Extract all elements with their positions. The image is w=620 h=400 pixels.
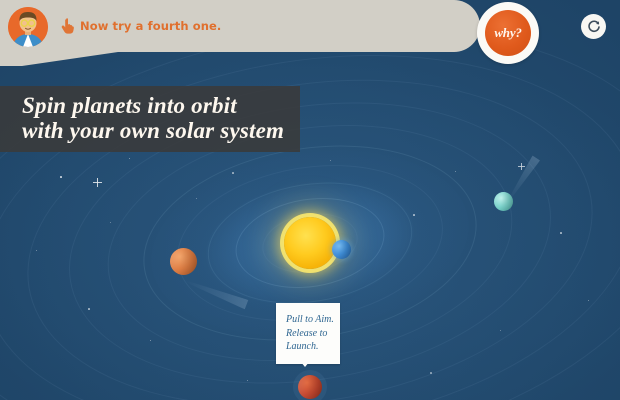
- planet-orange[interactable]: [170, 248, 197, 275]
- star: [588, 300, 589, 301]
- star: [88, 308, 90, 310]
- solar-system-canvas[interactable]: Pull to Aim. Release to Launch. Spin pla…: [0, 0, 620, 400]
- planet-red[interactable]: [298, 375, 322, 399]
- tooltip-line-1: Pull to Aim.: [286, 313, 331, 327]
- star: [455, 171, 456, 172]
- planet-shading: [170, 248, 197, 275]
- star: [129, 158, 130, 159]
- hint-message: Now try a fourth one.: [60, 18, 221, 34]
- planet-teal[interactable]: [494, 192, 513, 211]
- tooltip-tail: [296, 356, 314, 367]
- why-button-circle: why?: [485, 10, 531, 56]
- page-title-line-1: Spin planets into orbit: [22, 93, 284, 118]
- page-title: Spin planets into orbit with your own so…: [0, 86, 300, 152]
- why-button-label: why?: [494, 25, 521, 41]
- pointing-hand-icon: [60, 18, 75, 34]
- planet-shading: [298, 375, 322, 399]
- page-title-line-2: with your own solar system: [22, 118, 284, 143]
- avatar-illustration: [8, 7, 48, 47]
- refresh-icon: [586, 19, 602, 35]
- tutor-avatar[interactable]: [8, 7, 48, 47]
- star: [247, 380, 248, 381]
- star: [150, 340, 151, 341]
- refresh-button[interactable]: [581, 14, 606, 39]
- why-button[interactable]: why?: [477, 2, 539, 64]
- star: [36, 250, 37, 251]
- launch-tooltip: Pull to Aim. Release to Launch.: [276, 303, 340, 364]
- planet-blue[interactable]: [332, 240, 351, 259]
- star: [110, 222, 111, 223]
- planet-shading: [332, 240, 351, 259]
- star: [430, 372, 432, 374]
- hint-text: Now try a fourth one.: [80, 19, 221, 33]
- planet-shading: [494, 192, 513, 211]
- sun[interactable]: [284, 217, 336, 269]
- star: [60, 176, 62, 178]
- tooltip-line-2: Release to: [286, 327, 331, 341]
- star: [518, 163, 525, 170]
- tooltip-line-3: Launch.: [286, 340, 331, 354]
- hint-banner: Now try a fourth one.: [0, 0, 480, 52]
- star: [500, 330, 501, 331]
- star: [560, 232, 562, 234]
- star: [93, 178, 102, 187]
